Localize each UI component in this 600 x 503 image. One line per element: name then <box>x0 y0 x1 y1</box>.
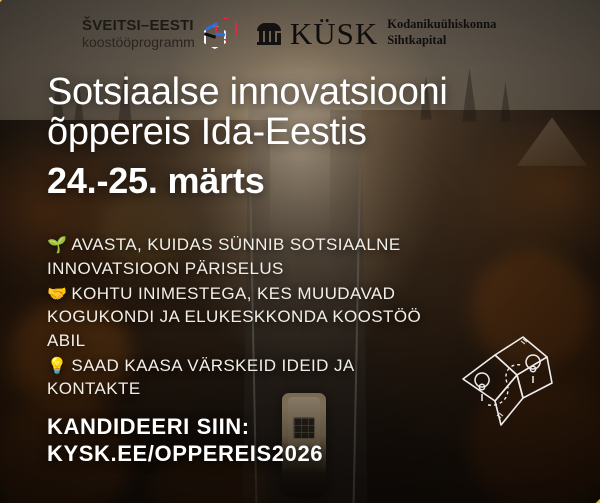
event-date: 24.-25. märts <box>47 161 553 201</box>
list-item-text: KOHTU INIMESTEGA, KES MUUDAVAD KOGUKONDI… <box>47 284 421 350</box>
kusk-subtitle-line2: Sihtkapital <box>387 33 496 49</box>
cta-url[interactable]: KYSK.EE/OPPEREIS2026 <box>47 441 323 468</box>
title-line-1: Sotsiaalse innovatsiooni <box>47 72 553 112</box>
kusk-logo: KÜSK Kodanikuühiskonna Sihtkapital <box>257 17 497 48</box>
kusk-subtitle-line1: Kodanikuühiskonna <box>387 17 496 33</box>
cta-line-1: KANDIDEERI SIIN: <box>47 414 323 441</box>
folded-map-with-pins-icon <box>455 335 585 435</box>
kusk-wordmark: KÜSK <box>290 18 378 49</box>
classical-building-icon <box>257 21 281 45</box>
list-item-text: AVASTA, KUIDAS SÜNNIB SOTSIAALNE INNOVAT… <box>47 235 401 278</box>
seedling-icon: 🌱 <box>47 237 67 254</box>
list-item: 🌱AVASTA, KUIDAS SÜNNIB SOTSIAALNE INNOVA… <box>47 233 437 280</box>
call-to-action: KANDIDEERI SIIN: KYSK.EE/OPPEREIS2026 <box>47 414 323 468</box>
list-item: 💡SAAD KAASA VÄRSKEID IDEID JA KONTAKTE <box>47 354 437 401</box>
title-line-2: õppereis Ida-Eestis <box>47 112 553 152</box>
list-item-text: SAAD KAASA VÄRSKEID IDEID JA KONTAKTE <box>47 356 354 399</box>
handshake-icon: 🤝 <box>47 286 67 303</box>
poster: ŠVEITSI–EESTI koostööprogramm KÜSK Kodan… <box>0 0 600 503</box>
logo-header: ŠVEITSI–EESTI koostööprogramm KÜSK Kodan… <box>0 0 600 66</box>
page-title: Sotsiaalse innovatsiooni õppereis Ida-Ee… <box>47 72 553 153</box>
lightbulb-icon: 💡 <box>47 358 67 375</box>
interlocking-hexagons-icon <box>203 16 241 50</box>
sveitsi-logo-line1: ŠVEITSI–EESTI <box>82 18 195 33</box>
sveitsi-eesti-logo: ŠVEITSI–EESTI koostööprogramm <box>82 16 241 50</box>
sveitsi-logo-line2: koostööprogramm <box>82 35 195 49</box>
list-item: 🤝KOHTU INIMESTEGA, KES MUUDAVAD KOGUKOND… <box>47 282 437 352</box>
